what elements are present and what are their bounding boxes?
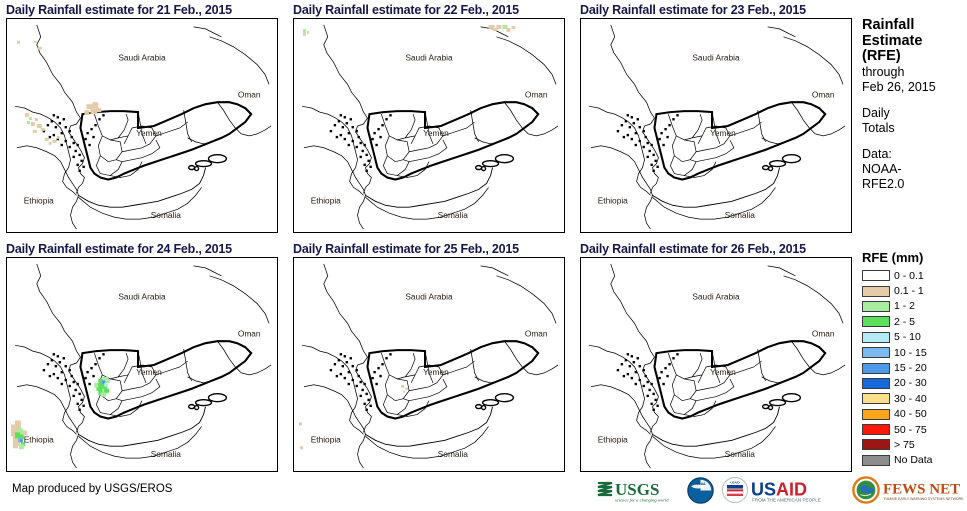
border-line bbox=[365, 187, 488, 219]
terrain-speckle bbox=[389, 114, 391, 116]
terrain-speckle bbox=[82, 405, 84, 407]
terrain-speckle bbox=[652, 154, 654, 156]
svg-text:USAID: USAID bbox=[751, 480, 807, 500]
rainfall-cell bbox=[104, 383, 108, 387]
terrain-speckle bbox=[350, 118, 352, 120]
terrain-speckle bbox=[358, 375, 360, 377]
terrain-speckle bbox=[662, 144, 664, 146]
island bbox=[476, 405, 482, 409]
terrain-speckle bbox=[623, 375, 625, 377]
map-label-saudi-arabia: Saudi Arabia bbox=[405, 292, 453, 302]
terrain-speckle bbox=[379, 375, 381, 377]
terrain-speckle bbox=[344, 377, 346, 379]
legend-swatch bbox=[862, 301, 890, 312]
terrain-speckle bbox=[61, 371, 63, 373]
svg-text:science for a changing world: science for a changing world bbox=[615, 498, 669, 503]
legend-label: 40 - 50 bbox=[894, 408, 927, 420]
terrain-speckle bbox=[61, 144, 63, 146]
terrain-speckle bbox=[647, 156, 649, 158]
terrain-speckle bbox=[360, 395, 362, 397]
border-line bbox=[784, 276, 844, 324]
terrain-speckle bbox=[643, 146, 645, 148]
rainfall-cell bbox=[96, 108, 101, 112]
terrain-speckle bbox=[94, 363, 96, 365]
rainfall-cell bbox=[35, 118, 38, 121]
terrain-speckle bbox=[668, 363, 670, 365]
terrain-speckle bbox=[356, 130, 358, 132]
border-line bbox=[194, 266, 222, 276]
rainfall-cell bbox=[20, 439, 23, 442]
terrain-speckle bbox=[55, 126, 57, 128]
terrain-speckle bbox=[356, 369, 358, 371]
island bbox=[483, 400, 499, 406]
governorate-boundary bbox=[397, 162, 429, 178]
island bbox=[189, 405, 195, 409]
governorate-boundary bbox=[397, 401, 429, 417]
report-period-line-1: Daily bbox=[862, 106, 967, 121]
legend-label: > 75 bbox=[894, 439, 915, 451]
rainfall-cell bbox=[45, 138, 49, 141]
terrain-speckle bbox=[635, 371, 637, 373]
map-21-feb[interactable]: Saudi ArabiaOmanYemenEthiopiaSomalia bbox=[6, 18, 278, 233]
island bbox=[496, 155, 514, 163]
report-period: Daily Totals bbox=[862, 106, 967, 136]
report-through-date: Feb 26, 2015 bbox=[862, 80, 967, 95]
governorate-boundary bbox=[670, 395, 696, 415]
island bbox=[783, 155, 801, 163]
terrain-speckle bbox=[55, 365, 57, 367]
legend-label: 30 - 40 bbox=[894, 393, 927, 405]
terrain-speckle bbox=[621, 124, 623, 126]
terrain-speckle bbox=[71, 136, 73, 138]
map-26-feb[interactable]: Saudi ArabiaOmanYemenEthiopiaSomalia bbox=[580, 257, 852, 472]
border-line bbox=[184, 110, 192, 142]
map-label-saudi-arabia: Saudi Arabia bbox=[118, 292, 166, 302]
terrain-speckle bbox=[73, 142, 75, 144]
border-line bbox=[768, 266, 796, 276]
map-22-feb[interactable]: Saudi ArabiaOmanYemenEthiopiaSomalia bbox=[293, 18, 565, 233]
svg-text:FAMINE EARLY WARNING SYSTEMS N: FAMINE EARLY WARNING SYSTEMS NETWORK bbox=[884, 497, 964, 501]
rainfall-cell bbox=[104, 389, 109, 393]
terrain-speckle bbox=[61, 132, 63, 134]
terrain-speckle bbox=[350, 357, 352, 359]
svg-text:NOAA: NOAA bbox=[696, 482, 707, 486]
terrain-speckle bbox=[672, 118, 674, 120]
terrain-speckle bbox=[375, 383, 377, 385]
map-23-feb[interactable]: Saudi ArabiaOmanYemenEthiopiaSomalia bbox=[580, 18, 852, 233]
terrain-speckle bbox=[652, 393, 654, 395]
terrain-speckle bbox=[367, 399, 369, 401]
map-label-oman: Oman bbox=[238, 328, 261, 338]
terrain-speckle bbox=[377, 367, 379, 369]
legend-swatch bbox=[862, 439, 890, 450]
island bbox=[770, 400, 786, 406]
border-line bbox=[504, 102, 528, 134]
border-line bbox=[589, 106, 651, 195]
border-line bbox=[15, 345, 77, 434]
legend-item: 15 - 20 bbox=[862, 360, 967, 375]
border-line bbox=[37, 264, 85, 432]
border-line bbox=[217, 102, 241, 134]
terrain-speckle bbox=[352, 365, 354, 367]
terrain-speckle bbox=[369, 166, 371, 168]
island bbox=[496, 394, 514, 402]
legend-swatch bbox=[862, 363, 890, 374]
legend-title: RFE (mm) bbox=[862, 250, 967, 265]
panel-title: Daily Rainfall estimate for 24 Feb., 201… bbox=[6, 241, 283, 257]
border-line bbox=[304, 146, 366, 229]
coastline bbox=[652, 407, 779, 447]
terrain-speckle bbox=[51, 359, 53, 361]
terrain-speckle bbox=[647, 142, 649, 144]
legend-label: 15 - 20 bbox=[894, 362, 927, 374]
border-line bbox=[324, 264, 372, 432]
map-label-ethiopia: Ethiopia bbox=[24, 434, 54, 444]
terrain-speckle bbox=[650, 383, 652, 385]
terrain-speckle bbox=[658, 138, 660, 140]
panel-title: Daily Rainfall estimate for 23 Feb., 201… bbox=[580, 2, 857, 18]
border-line bbox=[78, 426, 201, 458]
border-line bbox=[241, 126, 271, 136]
rainfall-cell bbox=[53, 140, 57, 143]
border-line bbox=[78, 187, 201, 219]
terrain-speckle bbox=[73, 156, 75, 158]
panel-title: Daily Rainfall estimate for 26 Feb., 201… bbox=[580, 241, 857, 257]
terrain-speckle bbox=[49, 375, 51, 377]
rainfall-cell bbox=[300, 446, 303, 449]
map-label-saudi-arabia: Saudi Arabia bbox=[405, 53, 453, 63]
terrain-speckle bbox=[348, 371, 350, 373]
terrain-speckle bbox=[84, 377, 86, 379]
terrain-speckle bbox=[365, 409, 367, 411]
terrain-speckle bbox=[360, 142, 362, 144]
panel-title: Daily Rainfall estimate for 22 Feb., 201… bbox=[293, 2, 570, 18]
island bbox=[189, 166, 195, 170]
island bbox=[482, 167, 486, 171]
governorate-boundary bbox=[94, 114, 128, 140]
border-line bbox=[504, 341, 528, 373]
rainfall-cell bbox=[401, 385, 404, 388]
legend-label: 50 - 75 bbox=[894, 424, 927, 436]
report-title-line-1: Rainfall bbox=[862, 18, 967, 34]
terrain-speckle bbox=[381, 124, 383, 126]
terrain-speckle bbox=[90, 367, 92, 369]
terrain-speckle bbox=[635, 144, 637, 146]
legend-label: 5 - 10 bbox=[894, 331, 921, 343]
report-data-line-3: RFE2.0 bbox=[862, 177, 967, 192]
island bbox=[209, 394, 227, 402]
terrain-speckle bbox=[102, 114, 104, 116]
terrain-speckle bbox=[649, 389, 651, 391]
terrain-speckle bbox=[656, 166, 658, 168]
terrain-speckle bbox=[61, 383, 63, 385]
fewsnet-logo[interactable]: FEWS NET FAMINE EARLY WARNING SYSTEMS NE… bbox=[852, 475, 967, 505]
map-label-somalia: Somalia bbox=[438, 210, 468, 220]
terrain-speckle bbox=[340, 373, 342, 375]
terrain-speckle bbox=[639, 140, 641, 142]
map-24-feb[interactable]: Saudi ArabiaOmanYemenEthiopiaSomalia bbox=[6, 257, 278, 472]
island bbox=[769, 406, 773, 410]
terrain-speckle bbox=[645, 375, 647, 377]
legend-item: 20 - 30 bbox=[862, 376, 967, 391]
terrain-speckle bbox=[381, 363, 383, 365]
island bbox=[763, 405, 769, 409]
map-label-oman: Oman bbox=[238, 89, 261, 99]
terrain-speckle bbox=[342, 365, 344, 367]
governorate-boundary bbox=[383, 395, 409, 415]
island bbox=[783, 394, 801, 402]
legend-swatch bbox=[862, 347, 890, 358]
terrain-speckle bbox=[647, 395, 649, 397]
rainfall-cell bbox=[33, 130, 37, 133]
terrain-speckle bbox=[658, 377, 660, 379]
terrain-speckle bbox=[367, 160, 369, 162]
terrain-speckle bbox=[666, 136, 668, 138]
legend-rows: 0 - 0.10.1 - 11 - 22 - 55 - 1010 - 1515 … bbox=[862, 268, 967, 468]
terrain-speckle bbox=[627, 134, 629, 136]
legend-label: 1 - 2 bbox=[894, 300, 915, 312]
border-line bbox=[589, 345, 651, 434]
terrain-speckle bbox=[649, 150, 651, 152]
terrain-speckle bbox=[633, 361, 635, 363]
terrain-speckle bbox=[336, 375, 338, 377]
terrain-speckle bbox=[78, 393, 80, 395]
terrain-speckle bbox=[643, 369, 645, 371]
terrain-speckle bbox=[625, 120, 627, 122]
border-line bbox=[611, 25, 659, 193]
island bbox=[482, 406, 486, 410]
terrain-speckle bbox=[639, 365, 641, 367]
terrain-speckle bbox=[53, 353, 55, 355]
terrain-speckle bbox=[69, 130, 71, 132]
border-line bbox=[217, 341, 241, 373]
map-label-yemen: Yemen bbox=[136, 367, 162, 377]
terrain-speckle bbox=[69, 146, 71, 148]
legend-label: 0 - 0.1 bbox=[894, 270, 924, 282]
map-label-ethiopia: Ethiopia bbox=[598, 434, 628, 444]
island bbox=[195, 167, 199, 171]
terrain-speckle bbox=[65, 140, 67, 142]
terrain-speckle bbox=[51, 120, 53, 122]
terrain-speckle bbox=[358, 136, 360, 138]
terrain-speckle bbox=[664, 128, 666, 130]
terrain-speckle bbox=[47, 363, 49, 365]
island bbox=[476, 166, 482, 170]
map-label-somalia: Somalia bbox=[725, 210, 755, 220]
terrain-speckle bbox=[672, 357, 674, 359]
border-line bbox=[497, 276, 557, 324]
terrain-speckle bbox=[389, 353, 391, 355]
island bbox=[769, 167, 773, 171]
terrain-speckle bbox=[59, 122, 61, 124]
terrain-speckle bbox=[650, 164, 652, 166]
terrain-speckle bbox=[336, 136, 338, 138]
terrain-speckle bbox=[652, 409, 654, 411]
coastline bbox=[78, 407, 205, 447]
border-line bbox=[302, 345, 364, 434]
border-line bbox=[791, 102, 815, 134]
terrain-speckle bbox=[647, 381, 649, 383]
terrain-speckle bbox=[617, 130, 619, 132]
border-line bbox=[194, 27, 222, 37]
report-period-line-2: Totals bbox=[862, 121, 967, 136]
governorate-boundary bbox=[668, 353, 702, 379]
terrain-speckle bbox=[344, 116, 346, 118]
border-line bbox=[815, 126, 845, 136]
legend-swatch bbox=[862, 409, 890, 420]
legend-swatch bbox=[862, 286, 890, 297]
rainfall-cell bbox=[49, 142, 52, 145]
rainfall-cell bbox=[100, 393, 106, 397]
terrain-speckle bbox=[78, 170, 80, 172]
border-line bbox=[471, 349, 479, 381]
island bbox=[763, 166, 769, 170]
panel-23-feb: Daily Rainfall estimate for 23 Feb., 201… bbox=[580, 2, 857, 238]
report-data-source: Data: NOAA- RFE2.0 bbox=[862, 147, 967, 192]
map-label-oman: Oman bbox=[812, 89, 835, 99]
terrain-speckle bbox=[348, 383, 350, 385]
terrain-speckle bbox=[371, 138, 373, 140]
terrain-speckle bbox=[365, 393, 367, 395]
rainfall-cell bbox=[307, 31, 309, 34]
border-line bbox=[302, 106, 364, 195]
rainfall-cell bbox=[31, 122, 35, 126]
terrain-speckle bbox=[356, 146, 358, 148]
island bbox=[196, 161, 212, 167]
terrain-speckle bbox=[47, 124, 49, 126]
terrain-speckle bbox=[75, 389, 77, 391]
border-line bbox=[471, 110, 479, 142]
terrain-speckle bbox=[633, 122, 635, 124]
rainfall-cell bbox=[27, 121, 30, 124]
report-title-line-3: (RFE) bbox=[862, 49, 967, 65]
terrain-speckle bbox=[385, 118, 387, 120]
panel-21-feb: Daily Rainfall estimate for 21 Feb., 201… bbox=[6, 2, 283, 238]
report-data-line-2: NOAA- bbox=[862, 162, 967, 177]
rainfall-cell bbox=[25, 113, 29, 117]
terrain-speckle bbox=[80, 399, 82, 401]
agency-logos: USGS science for a changing world NOAA U… bbox=[596, 474, 967, 506]
coastline bbox=[365, 168, 492, 208]
border-line bbox=[184, 349, 192, 381]
usgs-logo[interactable]: USGS science for a changing world bbox=[596, 475, 680, 505]
legend-item: > 75 bbox=[862, 437, 967, 452]
terrain-speckle bbox=[371, 377, 373, 379]
report-title-line-2: Estimate bbox=[862, 34, 967, 50]
border-line bbox=[528, 365, 558, 375]
terrain-speckle bbox=[330, 130, 332, 132]
svg-text:FEWS NET: FEWS NET bbox=[883, 482, 960, 498]
terrain-speckle bbox=[49, 136, 51, 138]
terrain-speckle bbox=[363, 403, 365, 405]
terrain-speckle bbox=[631, 116, 633, 118]
terrain-speckle bbox=[73, 381, 75, 383]
terrain-speckle bbox=[78, 409, 80, 411]
rainfall-cell bbox=[11, 424, 15, 436]
terrain-speckle bbox=[92, 375, 94, 377]
noaa-logo[interactable]: NOAA bbox=[687, 475, 714, 505]
rainfall-cell bbox=[13, 442, 18, 448]
island bbox=[195, 406, 199, 410]
terrain-speckle bbox=[645, 136, 647, 138]
legend-label: 0.1 - 1 bbox=[894, 285, 924, 297]
usaid-logo[interactable]: USAID USAID FROM THE AMERICAN PEOPLE bbox=[721, 475, 845, 505]
svg-text:USGS: USGS bbox=[615, 480, 659, 499]
governorate-boundary bbox=[670, 156, 696, 176]
terrain-speckle bbox=[356, 385, 358, 387]
border-line bbox=[304, 385, 366, 468]
rainfall-cell bbox=[303, 29, 306, 33]
map-25-feb[interactable]: Saudi ArabiaOmanYemenEthiopiaSomalia bbox=[293, 257, 565, 472]
legend-swatch bbox=[862, 424, 890, 435]
terrain-speckle bbox=[643, 385, 645, 387]
terrain-speckle bbox=[334, 124, 336, 126]
terrain-speckle bbox=[662, 383, 664, 385]
terrain-speckle bbox=[627, 114, 629, 116]
border-line bbox=[791, 341, 815, 373]
legend-label: 20 - 30 bbox=[894, 377, 927, 389]
border-line bbox=[528, 126, 558, 136]
terrain-speckle bbox=[57, 116, 59, 118]
legend-item: No Data bbox=[862, 453, 967, 468]
terrain-speckle bbox=[340, 114, 342, 116]
rainfall-cell bbox=[403, 391, 405, 393]
terrain-speckle bbox=[75, 150, 77, 152]
coastline bbox=[652, 168, 779, 208]
terrain-speckle bbox=[631, 138, 633, 140]
border-line bbox=[591, 146, 653, 229]
terrain-speckle bbox=[635, 132, 637, 134]
panel-22-feb: Daily Rainfall estimate for 22 Feb., 201… bbox=[293, 2, 570, 238]
terrain-speckle bbox=[635, 383, 637, 385]
terrain-speckle bbox=[385, 357, 387, 359]
report-data-line-1: Data: bbox=[862, 147, 967, 162]
terrain-speckle bbox=[656, 405, 658, 407]
governorate-boundary bbox=[381, 114, 415, 140]
border-line bbox=[497, 37, 557, 85]
rainfall-cell bbox=[92, 102, 98, 108]
governorate-boundary bbox=[684, 162, 716, 178]
terrain-speckle bbox=[340, 134, 342, 136]
terrain-speckle bbox=[643, 130, 645, 132]
terrain-speckle bbox=[57, 355, 59, 357]
terrain-speckle bbox=[363, 144, 365, 146]
border-line bbox=[652, 426, 775, 458]
legend-item: 0 - 0.1 bbox=[862, 268, 967, 283]
border-line bbox=[15, 106, 77, 195]
terrain-speckle bbox=[627, 353, 629, 355]
terrain-speckle bbox=[629, 126, 631, 128]
island bbox=[196, 400, 212, 406]
rainfall-cell bbox=[303, 33, 306, 36]
border-line bbox=[37, 25, 85, 193]
border-line bbox=[324, 25, 372, 193]
rainfall-cell bbox=[57, 136, 60, 139]
coastline bbox=[365, 407, 492, 447]
terrain-speckle bbox=[652, 170, 654, 172]
terrain-speckle bbox=[377, 128, 379, 130]
terrain-speckle bbox=[373, 371, 375, 373]
terrain-speckle bbox=[69, 385, 71, 387]
terrain-speckle bbox=[76, 164, 78, 166]
map-label-yemen: Yemen bbox=[710, 367, 736, 377]
terrain-speckle bbox=[625, 359, 627, 361]
rainfall-cell bbox=[94, 383, 98, 388]
border-line bbox=[210, 37, 270, 85]
governorate-boundary bbox=[94, 353, 128, 379]
border-line bbox=[17, 146, 79, 229]
map-label-ethiopia: Ethiopia bbox=[598, 195, 628, 205]
